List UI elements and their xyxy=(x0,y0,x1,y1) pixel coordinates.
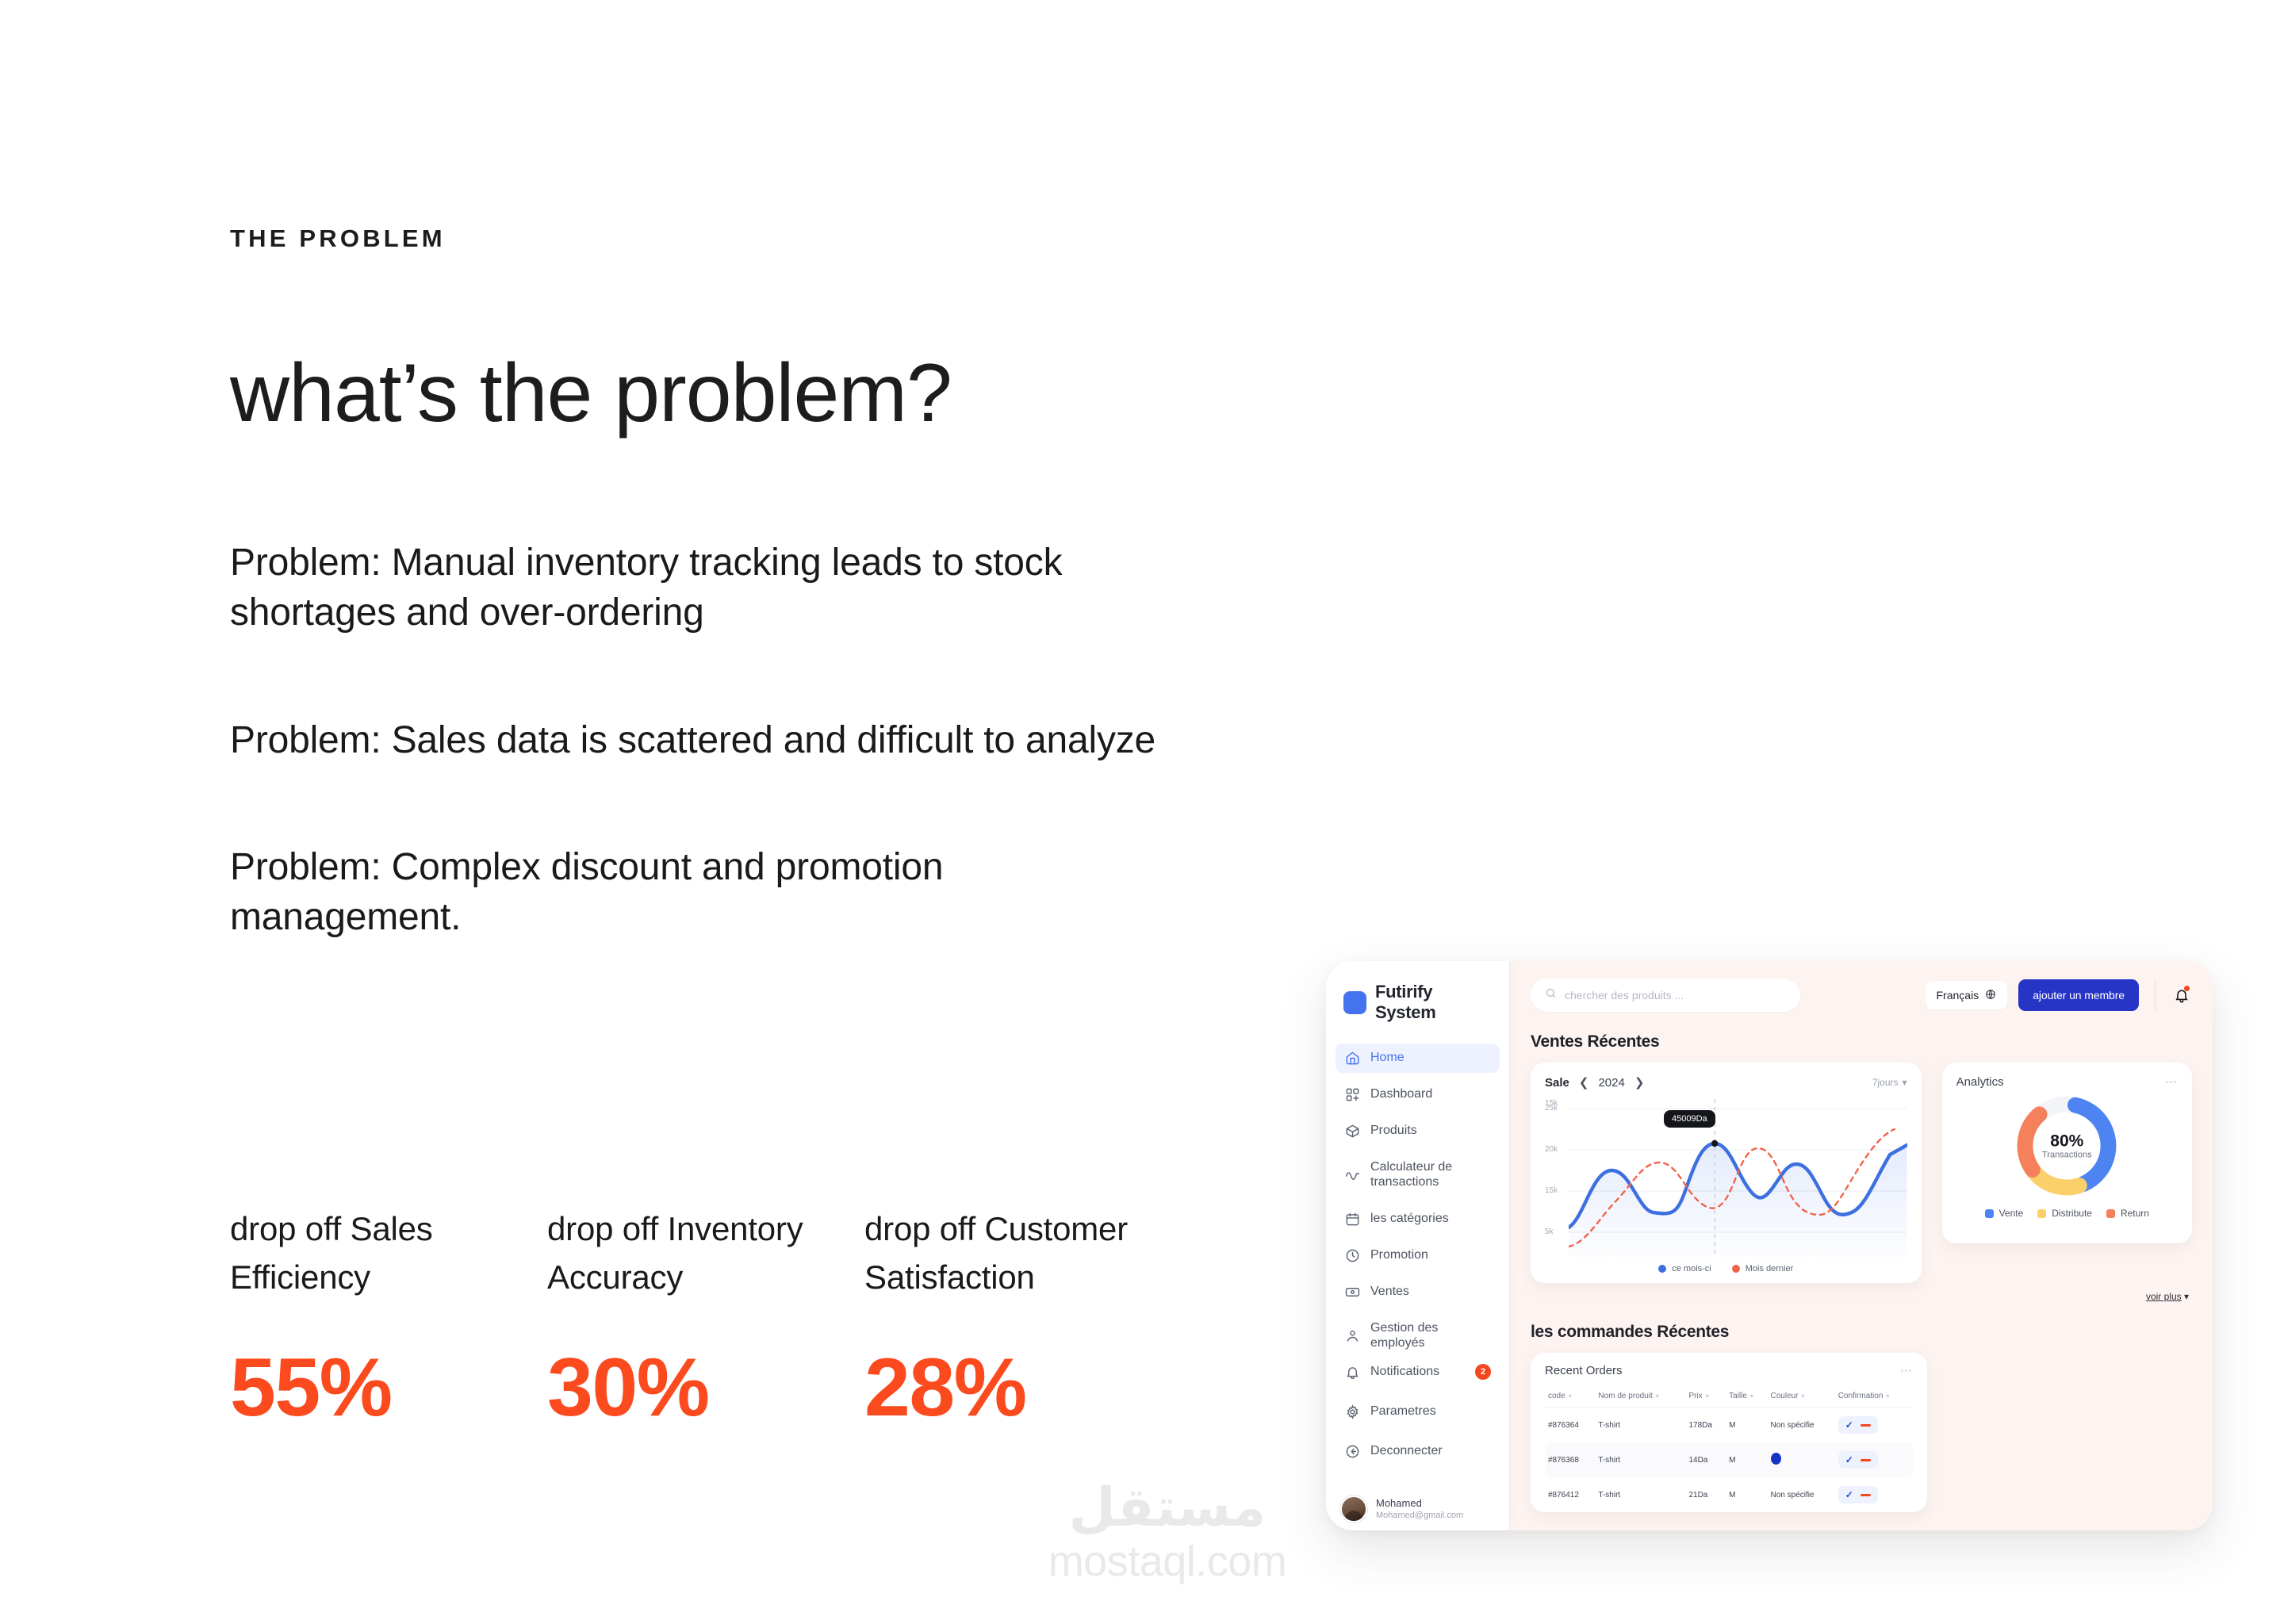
donut-sublabel: Transactions xyxy=(1956,1151,2178,1160)
stat-label: drop off Customer Satisfaction xyxy=(864,1205,1182,1302)
sidebar-item-ventes[interactable]: Ventes xyxy=(1336,1277,1500,1307)
dashboard-main: chercher des produits ... Français ajout… xyxy=(1510,961,2213,1530)
voir-plus-link[interactable]: voir plus ▾ xyxy=(1531,1291,2192,1302)
sales-chart-card: Sale ❮ 2024 ❯ 7jours ▾ 25k 20k 15k xyxy=(1531,1063,1922,1283)
sidebar-item-label: Calculateur de transactions xyxy=(1370,1160,1490,1190)
dashboard-topbar: chercher des produits ... Français ajout… xyxy=(1531,979,2192,1012)
stat-label: drop off Sales Efficiency xyxy=(230,1205,547,1302)
range-selector[interactable]: 7jours ▾ xyxy=(1872,1077,1907,1088)
user-info: Mohamed Mohamed@gmail.com xyxy=(1376,1496,1463,1522)
y-tick-15k: 15k xyxy=(1545,1099,1558,1108)
home-icon xyxy=(1345,1051,1360,1066)
cell-couleur: Non spécifie xyxy=(1768,1408,1835,1443)
stat-value: 30% xyxy=(547,1346,864,1429)
legend-item-ce-mois-ci: ce mois-ci xyxy=(1658,1264,1711,1274)
next-year-button[interactable]: ❯ xyxy=(1633,1075,1646,1090)
column-header-code[interactable]: code▾ xyxy=(1545,1385,1595,1408)
sales-chart-header: Sale ❮ 2024 ❯ 7jours ▾ xyxy=(1545,1075,1907,1090)
recent-sales-title: Ventes Récentes xyxy=(1531,1032,2192,1051)
sidebar-item-label: les catégories xyxy=(1370,1212,1449,1227)
sidebar-item-deconnecter[interactable]: Deconnecter xyxy=(1336,1437,1500,1466)
sidebar-item-categories[interactable]: les catégories xyxy=(1336,1205,1500,1234)
chart-year: 2024 xyxy=(1598,1076,1624,1090)
cell-confirmation: ✓ xyxy=(1835,1408,1913,1443)
legend-swatch xyxy=(2106,1209,2115,1218)
avatar xyxy=(1340,1496,1367,1522)
column-header-produit[interactable]: Nom de produit▾ xyxy=(1595,1385,1685,1408)
legend-label: ce mois-ci xyxy=(1672,1264,1711,1274)
sidebar-item-label: Dashboard xyxy=(1370,1087,1432,1102)
reject-icon[interactable] xyxy=(1861,1459,1871,1461)
column-header-confirmation[interactable]: Confirmation▾ xyxy=(1835,1385,1913,1408)
sidebar-item-home[interactable]: Home xyxy=(1336,1044,1500,1073)
donut-chart: 80% Transactions xyxy=(1956,1092,2178,1200)
user-email: Mohamed@gmail.com xyxy=(1376,1510,1463,1522)
stat-card-customer-satisfaction: drop off Customer Satisfaction 28% xyxy=(864,1205,1182,1429)
page-title: what’s the problem? xyxy=(230,352,1253,435)
sales-chart-legend: ce mois-ci Mois dernier xyxy=(1545,1264,1907,1274)
search-placeholder: chercher des produits ... xyxy=(1565,989,1684,1002)
topbar-divider xyxy=(2155,979,2156,1011)
table-row[interactable]: #876364 T-shirt 178Da M Non spécifie ✓ xyxy=(1545,1408,1913,1443)
sidebar-item-label: Home xyxy=(1370,1051,1405,1066)
sidebar-item-calculateur[interactable]: Calculateur de transactions xyxy=(1336,1153,1500,1197)
notification-bell-button[interactable] xyxy=(2171,985,2192,1005)
user-name: Mohamed xyxy=(1376,1496,1463,1511)
cell-code: #876412 xyxy=(1545,1477,1595,1512)
problem-item-1: Problem: Manual inventory tracking leads… xyxy=(230,538,1174,638)
cell-couleur xyxy=(1768,1442,1835,1477)
cell-couleur: Non spécifie xyxy=(1768,1477,1835,1512)
stat-label: drop off Inventory Accuracy xyxy=(547,1205,864,1302)
chart-title: Sale xyxy=(1545,1076,1569,1090)
sidebar-item-produits[interactable]: Produits xyxy=(1336,1116,1500,1146)
legend-item-vente: Vente xyxy=(1985,1208,2024,1219)
legend-item-distribute: Distribute xyxy=(2037,1208,2092,1219)
stat-value: 55% xyxy=(230,1346,547,1429)
stat-card-sales-efficiency: drop off Sales Efficiency 55% xyxy=(230,1205,547,1429)
sidebar-nav: Home Dashboard Produits Calculateur de t… xyxy=(1326,1044,1509,1358)
globe-icon xyxy=(1985,989,1996,1002)
sidebar-item-label: Deconnecter xyxy=(1370,1444,1443,1459)
wave-icon xyxy=(1345,1167,1360,1182)
cell-prix: 14Da xyxy=(1685,1442,1726,1477)
sidebar-item-label: Produits xyxy=(1370,1124,1417,1139)
sidebar-item-parametres[interactable]: Parametres xyxy=(1336,1397,1500,1427)
sidebar-nav-bottom: Notifications 2 Parametres Deconnecter xyxy=(1326,1357,1510,1477)
sales-chart-plot-area: 25k 20k 15k 15k 5k xyxy=(1545,1099,1907,1258)
recent-orders-card: Recent Orders ⋯ code▾ Nom de produit▾ Pr… xyxy=(1531,1353,1927,1512)
orders-title: Recent Orders xyxy=(1545,1364,1623,1377)
problem-item-3: Problem: Complex discount and promotion … xyxy=(230,842,1174,943)
cell-confirmation: ✓ xyxy=(1835,1477,1913,1512)
chevron-down-icon: ▾ xyxy=(1903,1077,1907,1088)
left-content-column: THE PROBLEM what’s the problem? Problem:… xyxy=(230,226,1253,943)
legend-dot xyxy=(1658,1265,1666,1273)
sidebar-user-profile[interactable]: Mohamed Mohamed@gmail.com xyxy=(1326,1496,1510,1522)
watermark-arabic: مستقل xyxy=(1009,1480,1326,1536)
sidebar-item-label: Parametres xyxy=(1370,1404,1436,1419)
y-tick-20k: 20k xyxy=(1545,1145,1558,1154)
legend-dot xyxy=(1732,1265,1740,1273)
sidebar-item-label: Ventes xyxy=(1370,1285,1409,1300)
table-header-row: code▾ Nom de produit▾ Prix▾ Taille▾ Coul… xyxy=(1545,1385,1913,1408)
column-header-taille[interactable]: Taille▾ xyxy=(1726,1385,1767,1408)
legend-item-mois-dernier: Mois dernier xyxy=(1732,1264,1794,1274)
sidebar-item-promotion[interactable]: Promotion xyxy=(1336,1241,1500,1270)
cell-produit: T-shirt xyxy=(1595,1477,1685,1512)
sidebar-item-label: Gestion des employés xyxy=(1370,1321,1490,1351)
cell-prix: 178Da xyxy=(1685,1408,1726,1443)
sidebar-item-gestion-employes[interactable]: Gestion des employés xyxy=(1336,1314,1500,1358)
chart-tooltip: 45009Da xyxy=(1664,1110,1715,1128)
table-row[interactable]: #876368 T-shirt 14Da M ✓ xyxy=(1545,1442,1913,1477)
check-icon[interactable]: ✓ xyxy=(1845,1490,1853,1500)
app-logo-icon xyxy=(1343,991,1366,1014)
confirmation-toggle[interactable]: ✓ xyxy=(1838,1416,1878,1434)
cell-taille: M xyxy=(1726,1408,1767,1443)
orders-header: Recent Orders ⋯ xyxy=(1545,1364,1913,1377)
legend-label: Distribute xyxy=(2052,1208,2092,1219)
cell-confirmation: ✓ xyxy=(1835,1442,1913,1477)
stat-value: 28% xyxy=(864,1346,1182,1429)
sidebar-item-label: Promotion xyxy=(1370,1248,1428,1263)
orders-table: code▾ Nom de produit▾ Prix▾ Taille▾ Coul… xyxy=(1545,1385,1913,1512)
grid-icon xyxy=(1345,1087,1360,1102)
analytics-header: Analytics ⋯ xyxy=(1956,1075,2178,1089)
problem-list: Problem: Manual inventory tracking leads… xyxy=(230,538,1253,943)
calendar-icon xyxy=(1345,1212,1360,1227)
slide-root: THE PROBLEM what’s the problem? Problem:… xyxy=(0,0,2284,1624)
y-tick-5k: 5k xyxy=(1545,1228,1554,1236)
legend-item-return: Return xyxy=(2106,1208,2149,1219)
legend-swatch xyxy=(1985,1209,1994,1218)
dashboard-row-charts: Sale ❮ 2024 ❯ 7jours ▾ 25k 20k 15k xyxy=(1531,1063,2192,1283)
add-member-button[interactable]: ajouter un membre xyxy=(2018,979,2139,1011)
cell-taille: M xyxy=(1726,1477,1767,1512)
confirmation-toggle[interactable]: ✓ xyxy=(1838,1486,1878,1503)
box-icon xyxy=(1345,1124,1360,1139)
cell-produit: T-shirt xyxy=(1595,1408,1685,1443)
cash-icon xyxy=(1345,1285,1360,1300)
analytics-card: Analytics ⋯ xyxy=(1942,1063,2192,1243)
notification-badge: 2 xyxy=(1475,1364,1491,1380)
recent-orders-title: les commandes Récentes xyxy=(1531,1323,2192,1342)
legend-label: Mois dernier xyxy=(1746,1264,1794,1274)
donut-percent: 80% xyxy=(1956,1132,2178,1150)
legend-swatch xyxy=(2037,1209,2046,1218)
more-options-icon[interactable]: ⋯ xyxy=(2165,1076,2178,1088)
cell-code: #876364 xyxy=(1545,1408,1595,1443)
language-label: Français xyxy=(1937,989,1979,1002)
sidebar-item-notifications[interactable]: Notifications 2 xyxy=(1336,1357,1500,1387)
check-icon[interactable]: ✓ xyxy=(1845,1455,1853,1465)
table-row[interactable]: #876412 T-shirt 21Da M Non spécifie ✓ xyxy=(1545,1477,1913,1512)
dashboard-mockup: Futirify System Home Dashboard Produits xyxy=(1326,961,2213,1530)
y-tick-15k-lbl: 15k xyxy=(1545,1186,1558,1195)
column-header-couleur[interactable]: Couleur▾ xyxy=(1768,1385,1835,1408)
gear-icon xyxy=(1345,1404,1360,1419)
problem-item-2: Problem: Sales data is scattered and dif… xyxy=(230,715,1174,765)
legend-label: Vente xyxy=(1999,1208,2024,1219)
stats-row: drop off Sales Efficiency 55% drop off I… xyxy=(230,1205,1182,1429)
donut-center-label: 80% Transactions xyxy=(1956,1132,2178,1159)
brand-name: Futirify System xyxy=(1375,982,1492,1023)
cell-taille: M xyxy=(1726,1442,1767,1477)
analytics-legend: Vente Distribute Return xyxy=(1956,1208,2178,1219)
search-input[interactable]: chercher des produits ... xyxy=(1531,979,1800,1012)
more-options-icon[interactable]: ⋯ xyxy=(1900,1365,1913,1377)
color-swatch xyxy=(1771,1453,1781,1465)
line-chart-svg xyxy=(1569,1099,1907,1258)
column-header-prix[interactable]: Prix▾ xyxy=(1685,1385,1726,1408)
caret-down-icon: ▾ xyxy=(2184,1291,2189,1302)
confirmation-toggle[interactable]: ✓ xyxy=(1838,1451,1878,1469)
language-selector[interactable]: Français xyxy=(1926,981,2008,1009)
clock-icon xyxy=(1345,1248,1360,1263)
voir-plus-label: voir plus xyxy=(2146,1291,2182,1302)
section-eyebrow: THE PROBLEM xyxy=(230,226,1253,251)
prev-year-button[interactable]: ❮ xyxy=(1577,1075,1591,1090)
bell-icon xyxy=(1345,1365,1360,1380)
sidebar-item-dashboard[interactable]: Dashboard xyxy=(1336,1080,1500,1109)
mostaql-watermark: مستقل mostaql.com xyxy=(1009,1480,1326,1588)
check-icon[interactable]: ✓ xyxy=(1845,1420,1853,1430)
sidebar-item-label: Notifications xyxy=(1370,1365,1439,1380)
range-label: 7jours xyxy=(1872,1077,1899,1088)
reject-icon[interactable] xyxy=(1861,1494,1871,1496)
reject-icon[interactable] xyxy=(1861,1424,1871,1427)
stat-card-inventory-accuracy: drop off Inventory Accuracy 30% xyxy=(547,1205,864,1429)
cell-produit: T-shirt xyxy=(1595,1442,1685,1477)
brand: Futirify System xyxy=(1326,982,1509,1023)
watermark-latin: mostaql.com xyxy=(1009,1536,1326,1588)
cell-code: #876368 xyxy=(1545,1442,1595,1477)
analytics-title: Analytics xyxy=(1956,1075,2004,1089)
dashboard-sidebar: Futirify System Home Dashboard Produits xyxy=(1326,961,1510,1530)
bell-alert-dot xyxy=(2184,986,2190,991)
search-icon xyxy=(1545,987,1557,1003)
logout-icon xyxy=(1345,1444,1360,1459)
cell-prix: 21Da xyxy=(1685,1477,1726,1512)
user-icon xyxy=(1345,1328,1360,1343)
legend-label: Return xyxy=(2121,1208,2149,1219)
